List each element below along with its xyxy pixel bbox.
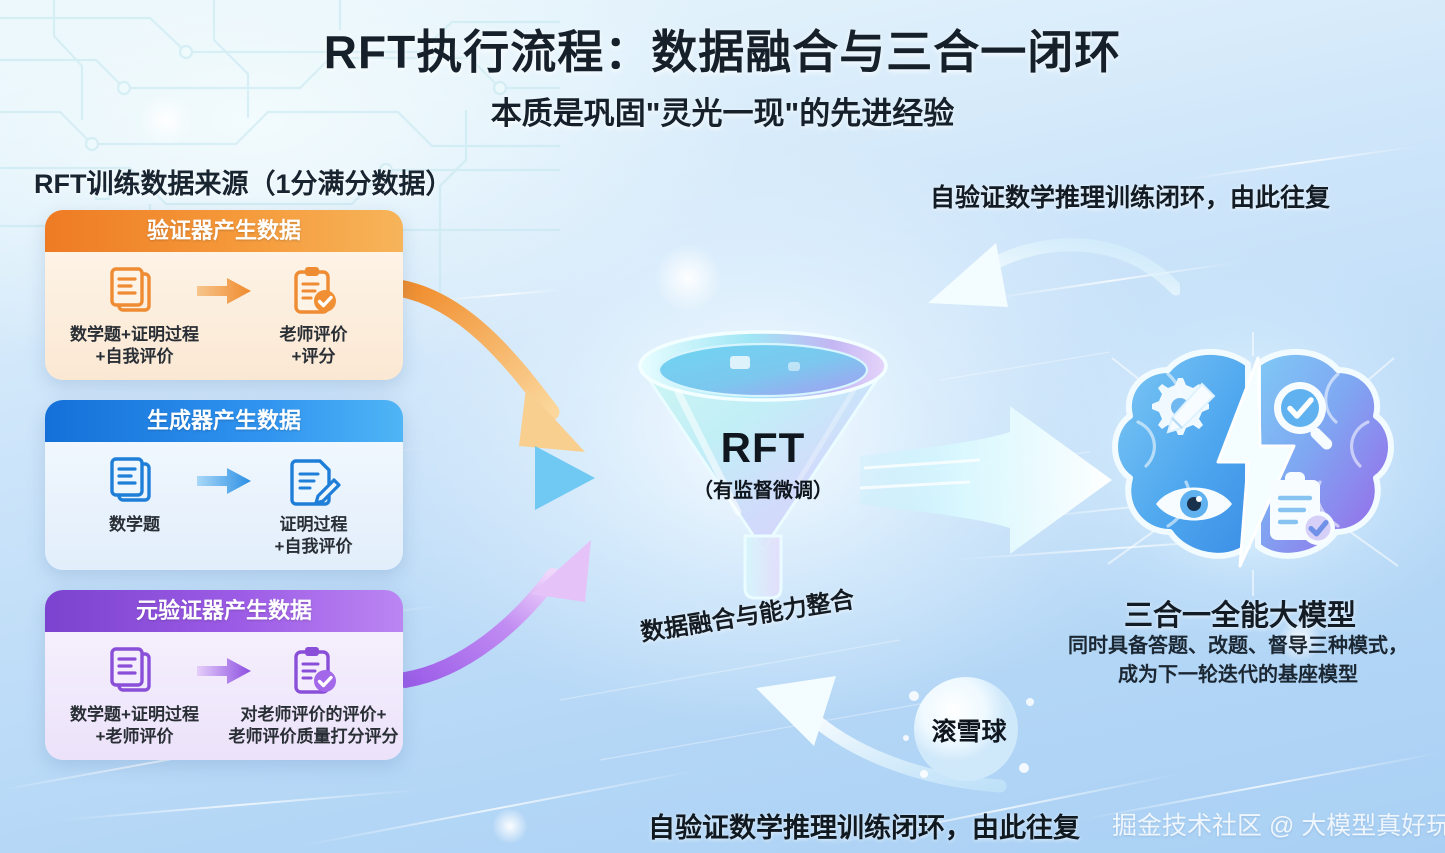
card-body-meta-verifier: 数学题+证明过程 +老师评价 对老师评价的评价+ 老师评价质量打分评分	[45, 632, 403, 760]
label-line: 老师评价质量打分评分	[224, 726, 403, 748]
arrow-generator-to-funnel	[401, 446, 595, 510]
card-body-verifier: 数学题+证明过程 +自我评价 老师评价 +评分	[45, 252, 403, 380]
label-line: 数学题+证明过程	[45, 704, 224, 726]
label-line: 对老师评价的评价+	[224, 704, 403, 726]
card-label-left: 数学题	[45, 514, 224, 558]
label-line: +自我评价	[45, 346, 224, 368]
output-description-line: 同时具备答题、改题、督导三种模式，	[1030, 632, 1445, 661]
documents-icon	[96, 264, 172, 318]
arrow-verifier-to-funnel	[399, 288, 585, 452]
output-description-line: 成为下一轮迭代的基座模型	[1030, 661, 1445, 690]
arrow-right-icon	[186, 466, 262, 496]
label-row: 数学题+证明过程 +老师评价 对老师评价的评价+ 老师评价质量打分评分	[45, 704, 403, 748]
document-pencil-icon	[276, 454, 352, 508]
page-title: RFT执行流程：数据融合与三合一闭环	[0, 16, 1445, 82]
card-header-verifier: 验证器产生数据	[45, 210, 403, 252]
page-subtitle: 本质是巩固"灵光一现"的先进经验	[0, 88, 1445, 133]
loop-caption-bottom: 自验证数学推理训练闭环，由此往复	[648, 806, 1080, 845]
loop-caption-top: 自验证数学推理训练闭环，由此往复	[930, 178, 1330, 214]
label-line: 证明过程	[224, 514, 403, 536]
card-header-generator: 生成器产生数据	[45, 400, 403, 442]
card-label-right: 对老师评价的评价+ 老师评价质量打分评分	[224, 704, 403, 748]
source-card-generator[interactable]: 生成器产生数据	[45, 400, 403, 570]
clipboard-check-icon	[276, 644, 352, 698]
label-line: +老师评价	[45, 726, 224, 748]
card-label-right: 老师评价 +评分	[224, 324, 403, 368]
icon-row	[96, 264, 352, 318]
arrow-right-icon	[186, 276, 262, 306]
output-description: 同时具备答题、改题、督导三种模式， 成为下一轮迭代的基座模型	[1030, 632, 1445, 690]
brain-graphic	[1098, 330, 1408, 600]
icon-row	[96, 644, 352, 698]
label-line: 数学题	[45, 514, 224, 536]
documents-icon	[96, 644, 172, 698]
watermark: 掘金技术社区 @ 大模型真好玩	[1112, 806, 1445, 842]
source-card-verifier[interactable]: 验证器产生数据	[45, 210, 403, 380]
label-line: +自我评价	[224, 536, 403, 558]
snowball-label: 滚雪球	[915, 712, 1023, 748]
source-card-meta-verifier[interactable]: 元验证器产生数据	[45, 590, 403, 760]
documents-icon	[96, 454, 172, 508]
arrow-funnel-to-brain	[860, 400, 1120, 560]
clipboard-check-icon	[276, 264, 352, 318]
card-label-right: 证明过程 +自我评价	[224, 514, 403, 558]
arrow-right-icon	[186, 656, 262, 686]
output-title: 三合一全能大模型	[1040, 592, 1440, 634]
label-line: 老师评价	[224, 324, 403, 346]
icon-row	[96, 454, 352, 508]
card-header-meta-verifier: 元验证器产生数据	[45, 590, 403, 632]
label-line: +评分	[224, 346, 403, 368]
card-label-left: 数学题+证明过程 +自我评价	[45, 324, 224, 368]
label-line: 数学题+证明过程	[45, 324, 224, 346]
card-body-generator: 数学题 证明过程 +自我评价	[45, 442, 403, 570]
label-row: 数学题+证明过程 +自我评价 老师评价 +评分	[45, 324, 403, 368]
sources-heading: RFT训练数据来源（1分满分数据）	[34, 162, 453, 201]
label-row: 数学题 证明过程 +自我评价	[45, 514, 403, 558]
infographic-canvas: RFT执行流程：数据融合与三合一闭环 本质是巩固"灵光一现"的先进经验 RFT训…	[0, 0, 1445, 853]
card-label-left: 数学题+证明过程 +老师评价	[45, 704, 224, 748]
arrow-meta-to-funnel	[405, 540, 591, 680]
